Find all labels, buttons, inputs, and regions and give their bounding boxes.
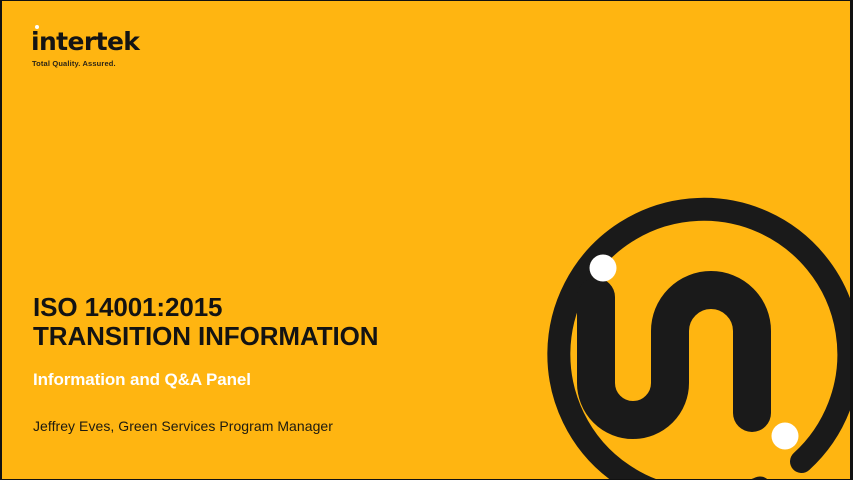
- page-title-line2: TRANSITION INFORMATION: [33, 322, 453, 351]
- logo-tagline: Total Quality. Assured.: [32, 59, 116, 68]
- ring-gap-dot-icon: [772, 423, 799, 450]
- intertek-logo: intertek Total Quality. Assured.: [31, 29, 231, 75]
- page-title: ISO 14001:2015 TRANSITION INFORMATION: [33, 293, 453, 351]
- presenter-byline: Jeffrey Eves, Green Services Program Man…: [33, 417, 453, 435]
- i-dot-icon: [35, 25, 39, 29]
- presentation-slide: intertek Total Quality. Assured. ISO 140…: [0, 0, 853, 480]
- in-lettermark-icon: [596, 290, 752, 420]
- intertek-in-brandmark: [468, 161, 853, 480]
- logo-wordmark: intertek: [31, 29, 231, 55]
- page-subtitle: Information and Q&A Panel: [33, 369, 453, 390]
- i-dot-white-icon: [590, 255, 617, 282]
- slide-text-block: ISO 14001:2015 TRANSITION INFORMATION In…: [33, 293, 453, 435]
- logo-wordmark-text: intertek: [31, 27, 139, 56]
- page-title-line1: ISO 14001:2015: [33, 293, 453, 322]
- ring-arc-icon: [559, 209, 849, 480]
